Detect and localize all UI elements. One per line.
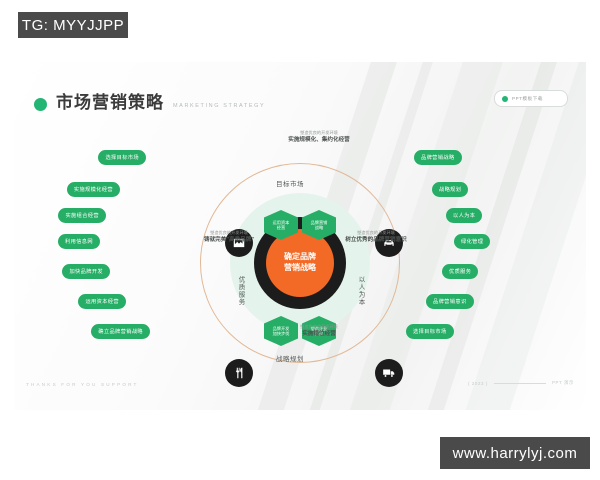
- watermark-top: TG: MYYJJPP: [18, 12, 128, 38]
- pill-left-0[interactable]: 选择目标市场: [98, 150, 146, 165]
- watermark-bottom: www.harrylyj.com: [440, 437, 590, 469]
- cutlery-icon: [232, 366, 246, 380]
- pill-right-4[interactable]: 优质服务: [442, 264, 478, 279]
- annotation-top-big: 实施规模化、集约化经营: [259, 136, 379, 144]
- ring-label-bottom: 战略规划: [276, 353, 304, 363]
- footer-rule: [494, 383, 546, 384]
- annotation-right: 塑造优良的开发环境 树立优秀的品牌营销意识: [316, 230, 436, 245]
- annotation-left: 塑造优良的开发环境 铸就完美"高拳品牌": [174, 230, 284, 245]
- annotation-bottom-big: 实施错位经营: [259, 330, 379, 338]
- annotation-right-big: 树立优秀的品牌营销意识: [316, 236, 436, 244]
- footer-left-text: THANKS FOR YOU SUPPORT: [26, 382, 139, 387]
- watermark-top-label: TG: MYYJJPP: [22, 17, 124, 34]
- ring-label-top: 目标市场: [276, 178, 304, 188]
- marketing-strategy-diagram: 确定品牌 营销战略 目标市场 战略规划 优质服务 以人为本 运用资本 经营 品牌…: [14, 62, 586, 410]
- ring-label-right: 以人为本: [356, 276, 366, 306]
- annotation-top: 塑造优良的开发环境 实施规模化、集约化经营: [259, 130, 379, 145]
- annotation-bottom: 塑造优良的开发环境 实施错位经营: [259, 324, 379, 339]
- pill-left-2[interactable]: 实施组合经营: [58, 208, 106, 223]
- footer-note: PPT 演示: [552, 380, 574, 386]
- ring-label-left: 优质服务: [236, 276, 246, 306]
- icon-node-bottom-right[interactable]: [375, 359, 403, 387]
- pill-right-3[interactable]: 绿化管理: [454, 234, 490, 249]
- pill-right-2[interactable]: 以人为本: [446, 208, 482, 223]
- truck-icon: [382, 366, 396, 380]
- pill-right-5[interactable]: 品牌营销意识: [426, 294, 474, 309]
- pill-left-6[interactable]: 确立品牌营销战略: [91, 324, 150, 339]
- annotation-left-big: 铸就完美"高拳品牌": [174, 236, 284, 244]
- hex-tr-line1: 品牌营销: [311, 220, 328, 225]
- hex-tl-line1: 运用资本: [273, 220, 290, 225]
- footer-right: ( 2023 ) PPT 演示: [468, 380, 574, 386]
- hub-line-1: 确定品牌: [284, 252, 316, 261]
- pill-right-1[interactable]: 战略规划: [432, 182, 468, 197]
- hub-line-2: 营销战略: [284, 263, 316, 272]
- footer-year: ( 2023 ): [468, 381, 488, 386]
- watermark-bottom-label: www.harrylyj.com: [453, 445, 578, 462]
- pill-left-5[interactable]: 运用资本经营: [78, 294, 126, 309]
- pill-right-6[interactable]: 选择目标市场: [406, 324, 454, 339]
- slide-canvas: 市场营销策略 MARKETING STRATEGY PPT模板下载 确定品牌 营…: [14, 62, 586, 410]
- pill-left-1[interactable]: 实施规模化经营: [67, 182, 120, 197]
- pill-left-4[interactable]: 加快品牌开发: [62, 264, 110, 279]
- icon-node-bottom-left[interactable]: [225, 359, 253, 387]
- pill-right-0[interactable]: 品牌营销战略: [414, 150, 462, 165]
- pill-left-3[interactable]: 利用信息网: [58, 234, 100, 249]
